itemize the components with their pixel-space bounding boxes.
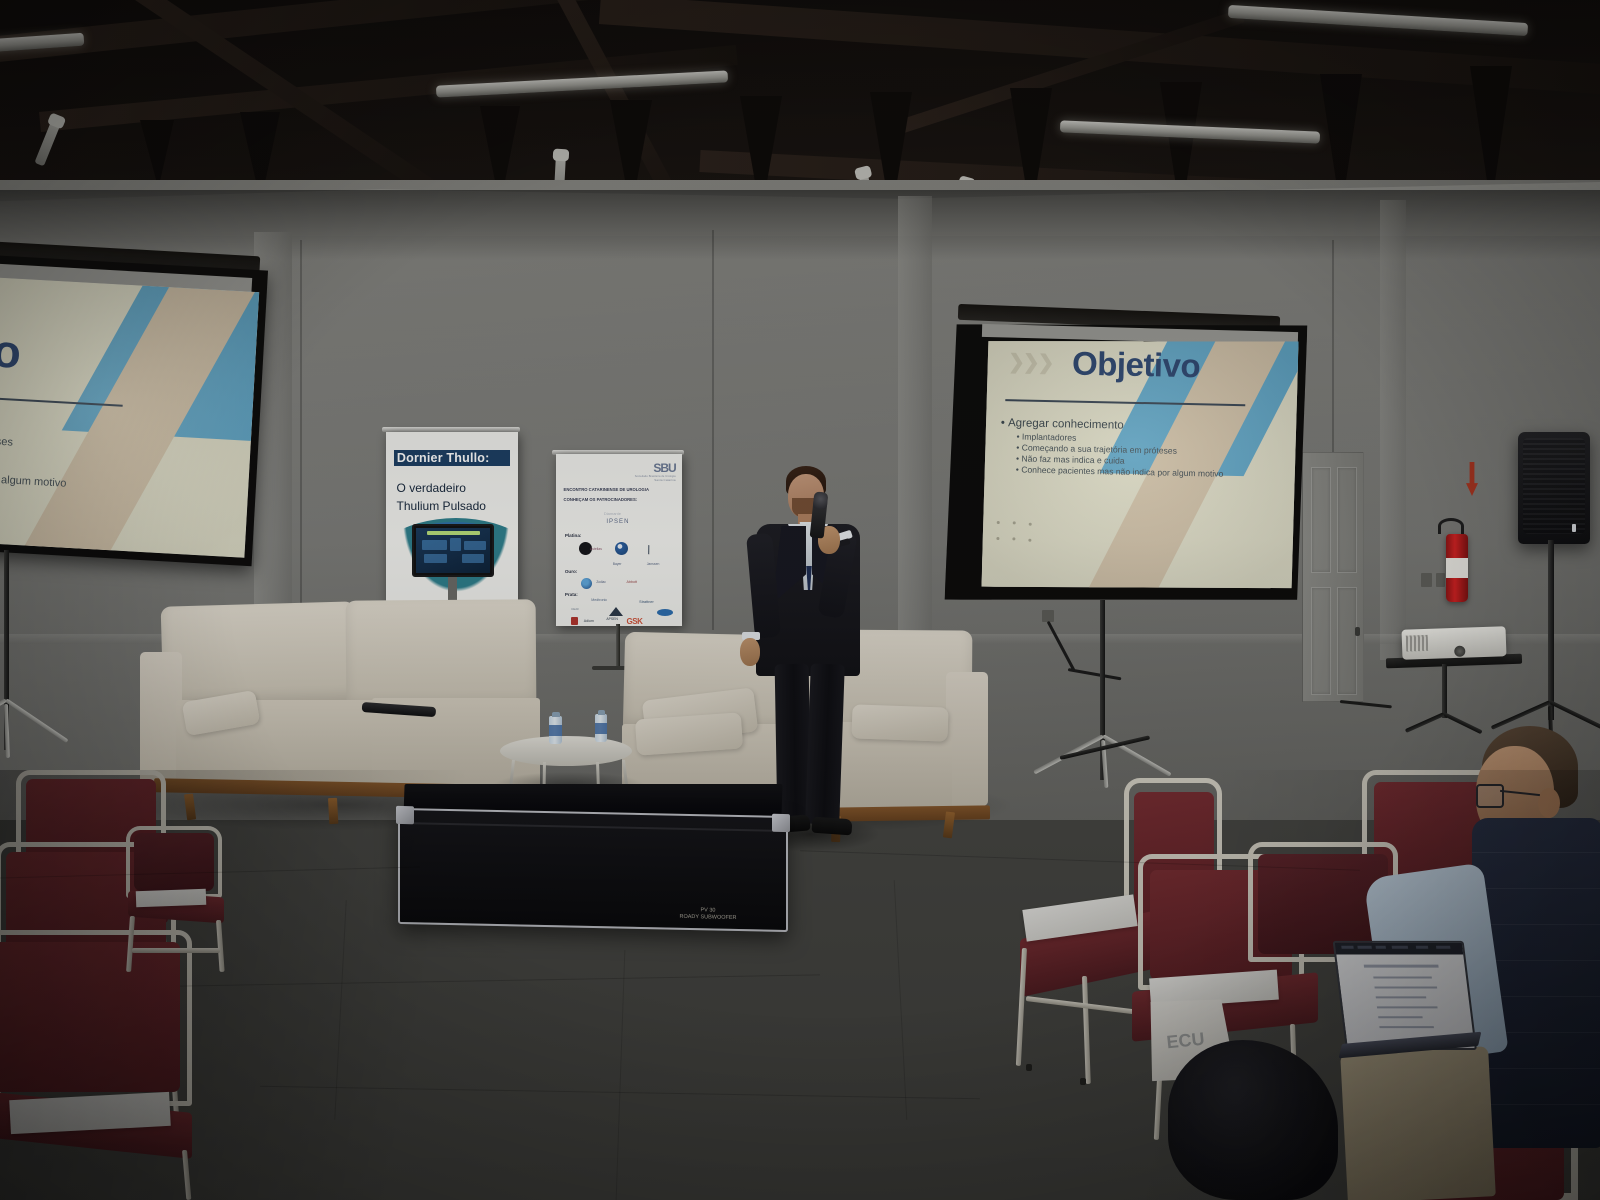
sponsor-logo-platina-3-text: Janssen <box>647 562 660 566</box>
slide-chevron-decoration: ❯❯❯ <box>1008 349 1053 375</box>
sponsor-logo-ouro-1-text: Zodiac <box>596 580 606 584</box>
speaker-stand-pole <box>1548 540 1554 720</box>
projection-screen-right: ❯❯❯ Objetivo • Agregar conhecimento • Im… <box>948 304 1318 604</box>
slide-corner-dots <box>996 521 1046 546</box>
projector-vent <box>1406 635 1429 652</box>
water-bottle[interactable] <box>549 716 562 744</box>
fire-extinguisher-handle <box>1438 518 1464 534</box>
sponsor-logo-platina-3: \ <box>645 543 652 557</box>
device-screen <box>416 528 490 573</box>
wall-outlet <box>1421 573 1432 587</box>
banner-device-monitor <box>412 524 494 577</box>
device-value-tile <box>462 554 484 563</box>
wall-seam <box>712 230 714 630</box>
wall-outlet <box>1436 573 1445 587</box>
water-bottle[interactable] <box>595 714 607 742</box>
screen-projection-surface: ivo em próteses indica por algum motivo <box>0 276 259 558</box>
banner-headline-line1: ENCONTRO CATARINENSE DE UROLOGIA <box>564 487 649 492</box>
slide-bullet-fragment: indica por algum motivo <box>0 471 67 489</box>
device-status-bar <box>427 531 480 535</box>
ceiling-light-tube <box>1228 5 1528 36</box>
banner-sponsors: SBU Sociedade Brasileira de Urologia San… <box>556 454 682 626</box>
slide-left: ivo em próteses indica por algum motivo <box>0 276 259 558</box>
slide-bullet-list: • Agregar conhecimento • Implantadores •… <box>1000 417 1225 480</box>
slide-title-fragment: ivo <box>0 321 22 379</box>
bottle-label <box>549 725 562 736</box>
banner-headline-line2: CONHEÇAM OS PATROCINADORES: <box>564 497 638 502</box>
sofa-backrest <box>161 601 358 706</box>
slide-bullet-text: Implantadores <box>1022 432 1077 443</box>
coffee-table-top <box>500 736 632 766</box>
sofa-backrest <box>346 599 537 708</box>
sponsor-tier-prata-label: Prata: <box>565 592 578 597</box>
wall-pillar-right <box>1380 200 1406 660</box>
device-value-tile <box>450 538 460 551</box>
bottle-cap <box>552 712 560 717</box>
door-panel <box>1337 467 1357 573</box>
sponsor-logo-prata-2: Strattner <box>639 600 654 604</box>
sponsor-logo-platina-1-text: Astellas <box>590 547 602 551</box>
screen-projection-surface: ❯❯❯ Objetivo • Agregar conhecimento • Im… <box>981 335 1298 593</box>
projection-screen-left: ivo em próteses indica por algum motivo <box>0 240 270 580</box>
projector <box>1402 626 1507 660</box>
sponsor-tier-ouro-label: Ouro: <box>565 569 578 574</box>
fire-extinguisher-label <box>1446 558 1468 578</box>
slide-right: ❯❯❯ Objetivo • Agregar conhecimento • Im… <box>981 335 1298 593</box>
sbu-logo-mark: SBU <box>635 461 676 475</box>
sponsor-logo-cross-mark <box>657 609 673 616</box>
sponsor-tier-platina-label: Platina: <box>565 533 582 538</box>
bottle-cap <box>598 710 605 715</box>
sbu-logo-region: Santa Catarina <box>635 478 676 482</box>
sponsor-logo-ouro-2-text: Abbott <box>627 580 637 584</box>
sbu-logo: SBU Sociedade Brasileira de Urologia San… <box>635 461 676 482</box>
projector-stand-pole <box>1442 664 1447 718</box>
slide-title: Objetivo <box>1072 345 1201 386</box>
device-value-tile <box>424 554 448 563</box>
fire-extinguisher[interactable] <box>1446 534 1468 602</box>
banner-subtitle-line1: O verdadeiro <box>397 481 466 495</box>
projector-lens <box>1454 646 1465 657</box>
slide-bullet-fragment: em próteses <box>0 433 69 451</box>
slide-bullet-fragments: em próteses indica por algum motivo <box>0 433 69 490</box>
sponsor-logo-adium-text: Adium <box>584 619 594 623</box>
speaker-power-led <box>1572 524 1576 532</box>
presenter-hand-left <box>740 638 760 666</box>
slide-bullet-text: Agregar conhecimento <box>1008 417 1124 431</box>
sponsor-logo-platina-2-text: Bayer <box>613 562 622 566</box>
throw-pillow <box>635 712 743 755</box>
sponsor-logo-diamante: Diamante <box>604 511 621 516</box>
banner-title: Dornier Thullo: <box>394 450 510 466</box>
sponsor-logo-platina-2 <box>615 542 628 555</box>
bottle-label <box>595 723 607 734</box>
banner-subtitle-line2: Thulium Pulsado <box>397 499 486 513</box>
sponsor-logo-prata-3: CEAF <box>571 607 579 611</box>
sponsor-logo-prata-1: Medtronic <box>591 598 607 602</box>
sponsor-logo-top: IPSEN <box>606 519 629 525</box>
floor-shading <box>0 770 1600 1200</box>
sponsor-logo-apsen-mark <box>609 607 623 616</box>
sponsor-logo-ouro-1 <box>581 578 592 589</box>
speaker-grille <box>1523 438 1585 534</box>
door-panel <box>1337 587 1357 695</box>
wall-pillar-center <box>898 196 932 646</box>
microphone-grille <box>813 491 829 510</box>
door-knob[interactable] <box>1355 627 1360 636</box>
device-value-tile <box>464 541 486 550</box>
conference-room-scene: ivo em próteses indica por algum motivo … <box>0 0 1600 1200</box>
device-value-tile <box>422 540 447 550</box>
pa-speaker <box>1518 432 1590 544</box>
sponsor-logo-adium-mark <box>571 617 578 625</box>
